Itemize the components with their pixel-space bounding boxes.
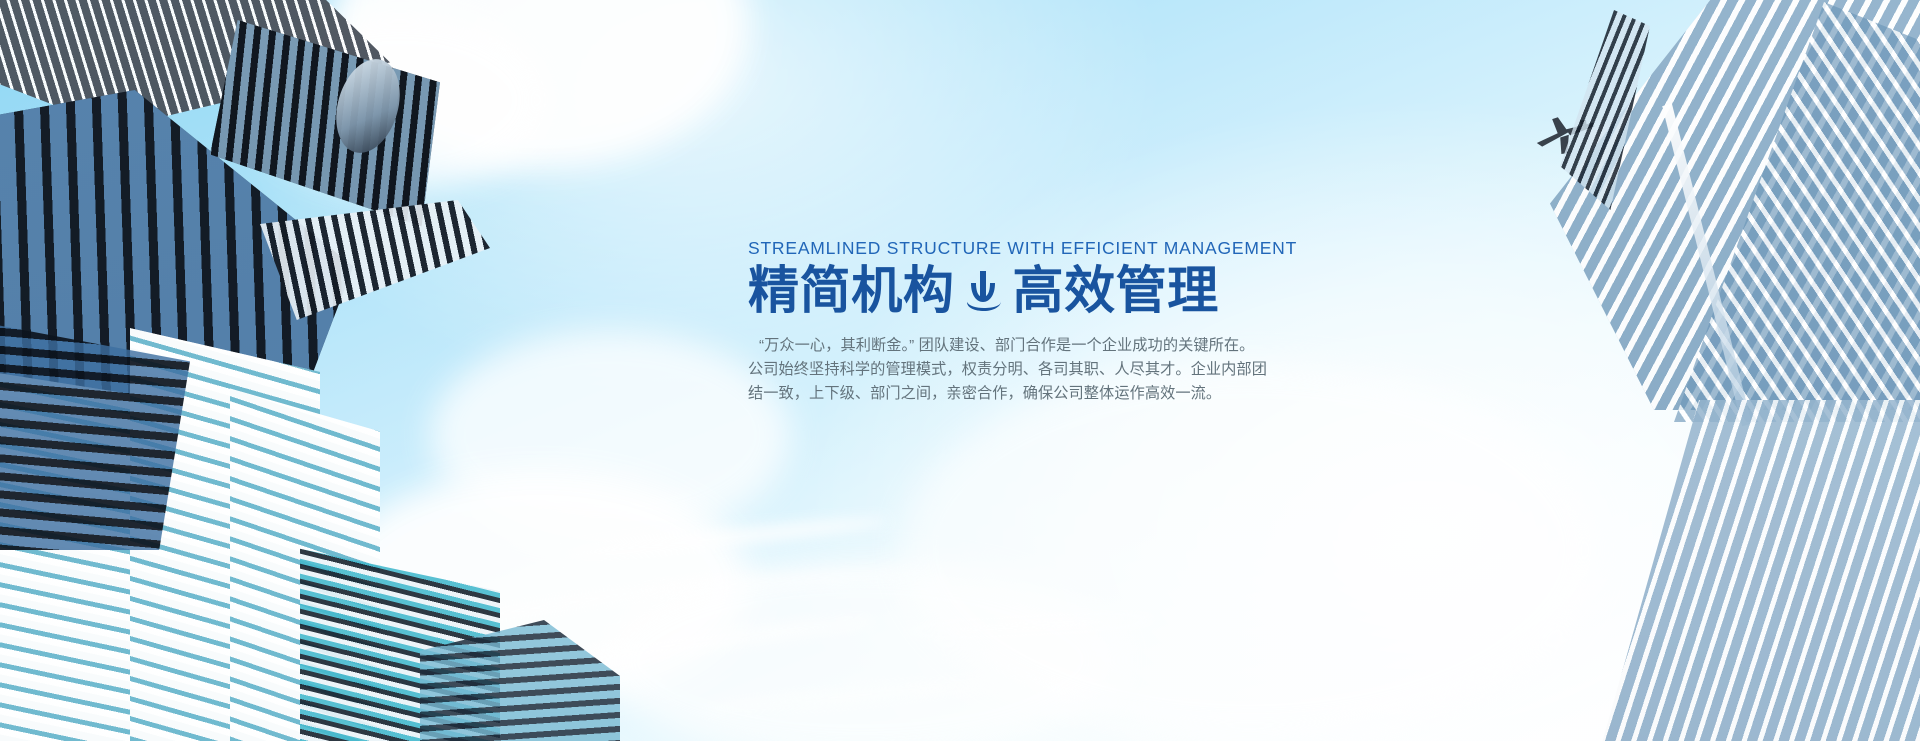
brand-mark-icon (963, 269, 1003, 313)
cirrus-wisp-4 (700, 677, 1000, 715)
cloud-center-haze (900, 360, 1600, 740)
light-glass-skyscraper (1530, 0, 1920, 450)
banner-eyebrow: STREAMLINED STRUCTURE WITH EFFICIENT MAN… (748, 238, 1348, 259)
body-line-3: 结一致，上下级、部门之间，亲密合作，确保公司整体运作高效一流。 (748, 382, 1348, 406)
cirrus-wisp-1 (560, 513, 890, 563)
banner-headline: 精简机构 高效管理 (748, 261, 1348, 321)
cloud-mid-left (430, 330, 790, 540)
cloud-bottom-center (600, 560, 1120, 741)
cirrus-wisp-2 (640, 565, 920, 597)
headline-left-text: 精简机构 (748, 261, 954, 321)
body-line-2: 公司始终坚持科学的管理模式，权责分明、各司其职、人尽其才。企业内部团 (748, 358, 1348, 382)
banner-copy: STREAMLINED STRUCTURE WITH EFFICIENT MAN… (748, 238, 1348, 406)
headline-right-text: 高效管理 (1012, 261, 1218, 321)
body-line-1: “万众一心，其利断金。” 团队建设、部门合作是一个企业成功的关键所在。 (748, 334, 1348, 358)
tower-left-louver-strip (260, 200, 490, 320)
corporate-banner: STREAMLINED STRUCTURE WITH EFFICIENT MAN… (0, 0, 1920, 741)
banner-body-copy: “万众一心，其利断金。” 团队建设、部门合作是一个企业成功的关键所在。 公司始终… (748, 334, 1348, 406)
cirrus-wisp-6 (900, 613, 1160, 638)
tower-right-lower-body (1600, 400, 1920, 741)
